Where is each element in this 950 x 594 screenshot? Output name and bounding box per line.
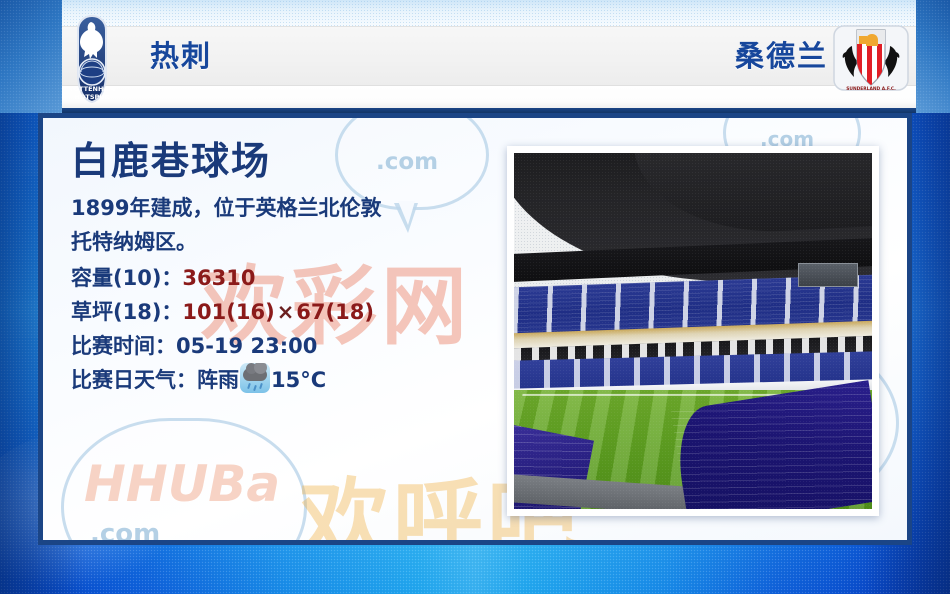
watermark-speech-bubble: HHUBa .com bbox=[61, 418, 307, 545]
stadium-description-line-1: 1899年建成，位于英格兰北伦敦 bbox=[71, 192, 491, 225]
match-time-label: 比赛时间： bbox=[71, 334, 176, 358]
header-top-strip bbox=[0, 0, 950, 26]
tottenham-hotspur-crest-icon: TOTTENHAM HOTSPUR bbox=[60, 14, 124, 104]
header-right-texture bbox=[916, 0, 950, 113]
weather-label: 比赛日天气： bbox=[71, 368, 197, 392]
stadium-capacity-row: 容量(10)：36310 bbox=[71, 261, 491, 295]
header-left-texture bbox=[0, 0, 62, 113]
header-left-blue-block bbox=[0, 0, 62, 113]
svg-text:HOTSPUR: HOTSPUR bbox=[74, 93, 109, 101]
match-weather-row: 比赛日天气：阵雨 15°C bbox=[71, 363, 491, 397]
stadium-title: 白鹿巷球场 bbox=[71, 140, 491, 184]
stadium-info-card-page: TOTTENHAM HOTSPUR 热刺 桑德兰 bbox=[0, 0, 950, 594]
watermark-domain: .com bbox=[90, 519, 160, 545]
shower-rain-icon bbox=[240, 363, 270, 393]
sunderland-afc-crest-icon: SUNDERLAND A.F.C. bbox=[832, 22, 910, 94]
stadium-info-column: 白鹿巷球场 1899年建成，位于英格兰北伦敦 托特纳姆区。 容量(10)：363… bbox=[71, 140, 491, 397]
stadium-photo-frame bbox=[507, 146, 879, 516]
white-hart-lane-stadium-photo bbox=[514, 153, 872, 509]
stadium-description-line-2: 托特纳姆区。 bbox=[71, 226, 491, 259]
svg-text:TOTTENHAM: TOTTENHAM bbox=[69, 85, 115, 93]
match-header: TOTTENHAM HOTSPUR 热刺 桑德兰 bbox=[0, 0, 950, 113]
header-white-band bbox=[0, 86, 950, 108]
svg-text:SUNDERLAND A.F.C.: SUNDERLAND A.F.C. bbox=[846, 86, 896, 92]
pitch-dimension-separator: × bbox=[275, 300, 297, 324]
photo-dither-overlay bbox=[514, 153, 872, 509]
weather-condition: 阵雨 bbox=[197, 368, 239, 392]
watermark-brand-latin: HHUBa bbox=[84, 455, 280, 513]
capacity-value: 36310 bbox=[182, 266, 255, 290]
stadium-pitch-row: 草坪(18)：101(16)×67(18) bbox=[71, 295, 491, 329]
header-strip-texture bbox=[0, 0, 950, 26]
match-time-value: 05-19 23:00 bbox=[176, 334, 317, 358]
pitch-length-value: 101(16) bbox=[182, 300, 274, 324]
pitch-label: 草坪(18)： bbox=[71, 300, 182, 324]
pitch-width-value: 67(18) bbox=[296, 300, 374, 324]
match-time-row: 比赛时间：05-19 23:00 bbox=[71, 329, 491, 363]
capacity-label: 容量(10)： bbox=[71, 266, 182, 290]
home-team-name: 热刺 bbox=[150, 28, 212, 84]
header-right-blue-block bbox=[916, 0, 950, 113]
stadium-info-card: .com .com HHUBa .com HHUBa .com 欢彩网 欢呼吧 … bbox=[38, 113, 912, 545]
away-team-name: 桑德兰 bbox=[735, 28, 828, 84]
weather-temperature: 15°C bbox=[271, 368, 326, 392]
